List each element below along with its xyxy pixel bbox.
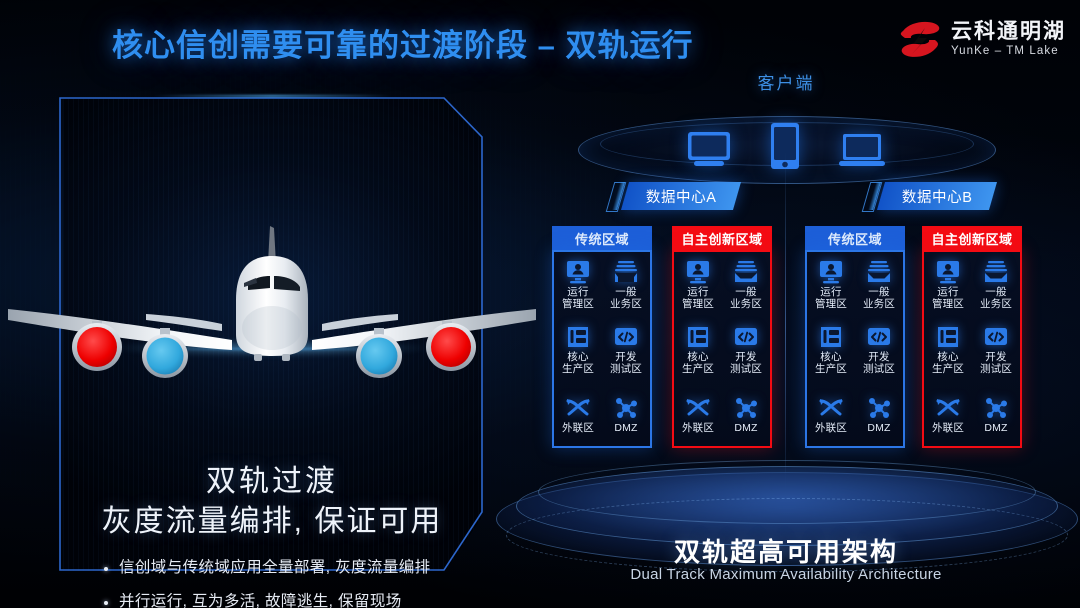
zone-body: 运行管理区 一般业务区 核心生产区 bbox=[672, 250, 772, 448]
zone-cell-label: 开发测试区 bbox=[863, 351, 895, 375]
zone-column-b-innovation[interactable]: 自主创新区域 运行管理区 一般业务区 bbox=[922, 226, 1022, 448]
network-nodes-icon bbox=[733, 396, 759, 420]
list-item: 信创域与传统域应用全量部署, 灰度流量编排 bbox=[104, 558, 464, 579]
zone-cell-core-production[interactable]: 核心生产区 bbox=[807, 317, 855, 382]
zone-cell-label: 开发测试区 bbox=[610, 351, 642, 375]
zone-column-a-innovation[interactable]: 自主创新区域 运行管理区 一般业务区 bbox=[672, 226, 772, 448]
datacenter-b-label: 数据中心B bbox=[902, 186, 973, 207]
inbox-tray-icon bbox=[866, 260, 892, 284]
zone-column-b-traditional[interactable]: 传统区域 运行管理区 一般业务区 bbox=[805, 226, 905, 448]
architecture-caption-cn: 双轨超高可用架构 bbox=[492, 532, 1080, 569]
zone-cell-label: 外联区 bbox=[562, 422, 594, 434]
bullet-dot-icon bbox=[104, 567, 108, 571]
zone-cell-admin[interactable]: 运行管理区 bbox=[924, 252, 972, 317]
code-brackets-icon bbox=[733, 325, 759, 349]
zone-cell-admin[interactable]: 运行管理区 bbox=[807, 252, 855, 317]
zone-cell-label: 开发测试区 bbox=[730, 351, 762, 375]
zone-cell-dmz[interactable]: DMZ bbox=[855, 381, 903, 446]
zone-cell-label: 一般业务区 bbox=[863, 286, 895, 310]
zone-cell-admin[interactable]: 运行管理区 bbox=[674, 252, 722, 317]
zone-cell-general-business[interactable]: 一般业务区 bbox=[972, 252, 1020, 317]
datacenter-b-tag[interactable]: 数据中心B bbox=[877, 182, 997, 210]
network-nodes-icon bbox=[866, 396, 892, 420]
client-tier-label: 客户端 bbox=[492, 69, 1080, 94]
airplane-illustration bbox=[8, 204, 536, 404]
brand-name-en: YunKe – TM Lake bbox=[951, 46, 1066, 58]
zone-cell-label: 外联区 bbox=[815, 422, 847, 434]
code-brackets-icon bbox=[866, 325, 892, 349]
zone-cell-external[interactable]: 外联区 bbox=[924, 381, 972, 446]
admin-monitor-icon bbox=[565, 260, 591, 284]
code-brackets-icon bbox=[613, 325, 639, 349]
laptop-icon bbox=[838, 132, 886, 175]
server-database-icon bbox=[565, 325, 591, 349]
crossing-arrows-icon bbox=[565, 396, 591, 420]
crossing-arrows-icon bbox=[685, 396, 711, 420]
zone-cell-label: DMZ bbox=[867, 422, 890, 434]
zone-cell-label: 外联区 bbox=[682, 422, 714, 434]
zone-column-a-traditional[interactable]: 传统区域 运行管理区 一般业务区 bbox=[552, 226, 652, 448]
monitor-icon bbox=[686, 130, 732, 175]
zone-cell-label: DMZ bbox=[984, 422, 1007, 434]
hero-heading-secondary: 灰度流量编排, 保证可用 bbox=[60, 496, 484, 540]
zone-cell-core-production[interactable]: 核心生产区 bbox=[924, 317, 972, 382]
server-database-icon bbox=[935, 325, 961, 349]
architecture-diagram: 客户端 bbox=[492, 60, 1080, 608]
zone-body: 运行管理区 一般业务区 核心生产区 bbox=[552, 250, 652, 448]
datacenter-divider bbox=[785, 152, 786, 500]
list-item: 并行运行, 互为多活, 故障逃生, 保留现场 bbox=[104, 592, 464, 608]
zone-header: 传统区域 bbox=[552, 226, 652, 250]
zone-cell-core-production[interactable]: 核心生产区 bbox=[674, 317, 722, 382]
zone-header: 自主创新区域 bbox=[672, 226, 772, 250]
bullet-text: 信创域与传统域应用全量部署, 灰度流量编排 bbox=[119, 558, 431, 579]
zone-cell-label: 运行管理区 bbox=[562, 286, 594, 310]
zone-cell-label: 核心生产区 bbox=[932, 351, 964, 375]
zone-cell-label: 一般业务区 bbox=[730, 286, 762, 310]
zone-cell-label: 运行管理区 bbox=[932, 286, 964, 310]
brand-name-cn: 云科通明湖 bbox=[951, 21, 1066, 42]
bullet-text: 并行运行, 互为多活, 故障逃生, 保留现场 bbox=[119, 592, 402, 608]
zone-cell-label: DMZ bbox=[734, 422, 757, 434]
crossing-arrows-icon bbox=[818, 396, 844, 420]
crossing-arrows-icon bbox=[935, 396, 961, 420]
zone-cell-label: DMZ bbox=[614, 422, 637, 434]
zone-cell-label: 运行管理区 bbox=[815, 286, 847, 310]
inbox-tray-icon bbox=[733, 260, 759, 284]
zone-cell-external[interactable]: 外联区 bbox=[674, 381, 722, 446]
brand-logo: 云科通明湖 YunKe – TM Lake bbox=[898, 18, 1066, 60]
zone-cell-general-business[interactable]: 一般业务区 bbox=[722, 252, 770, 317]
datacenter-a-tag[interactable]: 数据中心A bbox=[621, 182, 741, 210]
admin-monitor-icon bbox=[685, 260, 711, 284]
zone-cell-general-business[interactable]: 一般业务区 bbox=[855, 252, 903, 317]
slide-canvas: 核心信创需要可靠的过渡阶段 – 双轨运行 云科通明湖 YunKe – TM La… bbox=[0, 0, 1080, 608]
page-title: 核心信创需要可靠的过渡阶段 – 双轨运行 bbox=[112, 20, 693, 65]
inbox-tray-icon bbox=[983, 260, 1009, 284]
hero-heading-primary: 双轨过渡 bbox=[60, 456, 484, 500]
architecture-caption-en: Dual Track Maximum Availability Architec… bbox=[492, 566, 1080, 583]
network-nodes-icon bbox=[613, 396, 639, 420]
bullet-dot-icon bbox=[104, 601, 108, 605]
admin-monitor-icon bbox=[935, 260, 961, 284]
zone-body: 运行管理区 一般业务区 核心生产区 bbox=[922, 250, 1022, 448]
zone-cell-label: 外联区 bbox=[932, 422, 964, 434]
zone-cell-dmz[interactable]: DMZ bbox=[602, 381, 650, 446]
zone-cell-dmz[interactable]: DMZ bbox=[722, 381, 770, 446]
zone-cell-label: 核心生产区 bbox=[682, 351, 714, 375]
zone-cell-core-production[interactable]: 核心生产区 bbox=[554, 317, 602, 382]
hero-top-glow bbox=[153, 95, 390, 97]
hero-panel: 双轨过渡 灰度流量编排, 保证可用 信创域与传统域应用全量部署, 灰度流量编排 … bbox=[60, 96, 484, 574]
zone-cell-dev-test[interactable]: 开发测试区 bbox=[855, 317, 903, 382]
zone-cell-label: 核心生产区 bbox=[562, 351, 594, 375]
zone-cell-dmz[interactable]: DMZ bbox=[972, 381, 1020, 446]
brand-logo-text: 云科通明湖 YunKe – TM Lake bbox=[951, 21, 1066, 58]
zone-cell-external[interactable]: 外联区 bbox=[807, 381, 855, 446]
zone-cell-dev-test[interactable]: 开发测试区 bbox=[602, 317, 650, 382]
inbox-tray-icon bbox=[613, 260, 639, 284]
zone-cell-external[interactable]: 外联区 bbox=[554, 381, 602, 446]
zone-header: 传统区域 bbox=[805, 226, 905, 250]
datacenter-a-label: 数据中心A bbox=[646, 186, 717, 207]
zone-cell-label: 一般业务区 bbox=[610, 286, 642, 310]
zone-cell-label: 运行管理区 bbox=[682, 286, 714, 310]
zone-header: 自主创新区域 bbox=[922, 226, 1022, 250]
server-database-icon bbox=[685, 325, 711, 349]
hero-bullet-list: 信创域与传统域应用全量部署, 灰度流量编排 并行运行, 互为多活, 故障逃生, … bbox=[104, 558, 464, 608]
code-brackets-icon bbox=[983, 325, 1009, 349]
zone-cell-admin[interactable]: 运行管理区 bbox=[554, 252, 602, 317]
zone-cell-dev-test[interactable]: 开发测试区 bbox=[972, 317, 1020, 382]
zone-body: 运行管理区 一般业务区 核心生产区 bbox=[805, 250, 905, 448]
admin-monitor-icon bbox=[818, 260, 844, 284]
zone-cell-general-business[interactable]: 一般业务区 bbox=[602, 252, 650, 317]
zone-cell-dev-test[interactable]: 开发测试区 bbox=[722, 317, 770, 382]
client-device-group bbox=[492, 105, 1080, 175]
zone-cell-label: 一般业务区 bbox=[980, 286, 1012, 310]
network-nodes-icon bbox=[983, 396, 1009, 420]
server-database-icon bbox=[818, 325, 844, 349]
red-swirl-logo-icon bbox=[898, 18, 942, 60]
zone-cell-label: 开发测试区 bbox=[980, 351, 1012, 375]
zone-cell-label: 核心生产区 bbox=[815, 351, 847, 375]
